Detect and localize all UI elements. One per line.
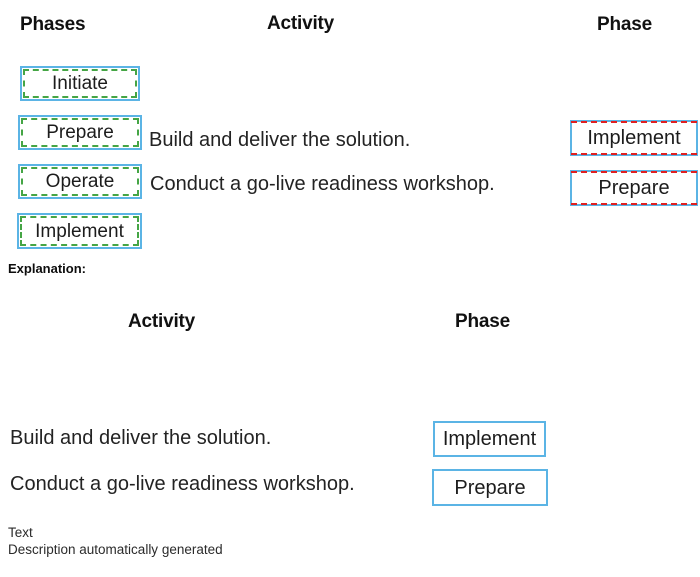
- explanation-phase-chip-row-2: Prepare: [432, 469, 548, 506]
- phase-option-implement[interactable]: Implement: [17, 213, 142, 249]
- activity-text-row-1: Build and deliver the solution.: [149, 130, 410, 150]
- phase-option-operate[interactable]: Operate: [18, 164, 142, 199]
- phase-option-label: Operate: [46, 172, 115, 191]
- explanation-phase-chip-row-1: Implement: [433, 421, 546, 457]
- explanation-phase-label: Implement: [443, 429, 536, 449]
- caption-line-2: Description automatically generated: [8, 541, 223, 558]
- explanation-label: Explanation:: [8, 261, 86, 276]
- phase-option-initiate[interactable]: Initiate: [20, 66, 140, 101]
- explanation-phase-label: Prepare: [454, 478, 525, 498]
- phase-option-prepare[interactable]: Prepare: [18, 115, 142, 150]
- explanation-header-activity: Activity: [128, 311, 195, 333]
- answer-chip-label: Implement: [587, 128, 680, 148]
- answer-chip-label: Prepare: [598, 178, 669, 198]
- header-activity: Activity: [267, 13, 334, 35]
- phase-option-label: Prepare: [46, 123, 114, 142]
- answer-chip-row-1[interactable]: Implement: [570, 120, 698, 156]
- caption-line-1: Text: [8, 524, 33, 541]
- header-phase: Phase: [597, 14, 652, 36]
- explanation-activity-row-2: Conduct a go-live readiness workshop.: [10, 474, 355, 494]
- header-phases: Phases: [20, 14, 85, 36]
- explanation-activity-row-1: Build and deliver the solution.: [10, 428, 271, 448]
- answer-chip-row-2[interactable]: Prepare: [570, 170, 698, 206]
- phase-option-label: Implement: [35, 222, 124, 241]
- phase-option-label: Initiate: [52, 74, 108, 93]
- activity-text-row-2: Conduct a go-live readiness workshop.: [150, 174, 495, 194]
- explanation-header-phase: Phase: [455, 311, 510, 333]
